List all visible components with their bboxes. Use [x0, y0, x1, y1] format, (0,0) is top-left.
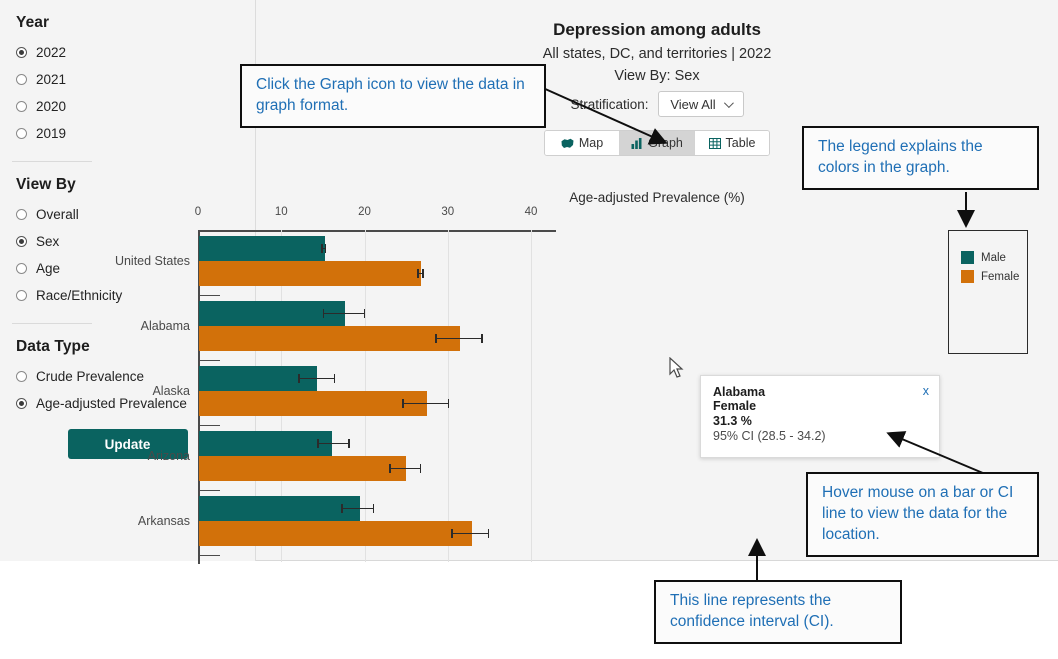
- year-option-2[interactable]: 2020: [16, 93, 239, 120]
- y-axis-label: United States: [115, 254, 190, 268]
- group-separator-tick: [198, 295, 220, 296]
- x-tick-label: 0: [195, 206, 201, 218]
- bar-arkansas-male[interactable]: [199, 496, 360, 521]
- ci-line-arkansas-male[interactable]: [341, 508, 374, 510]
- annotation-callout-legend: The legend explains the colors in the gr…: [802, 126, 1039, 190]
- close-icon[interactable]: x: [923, 384, 929, 398]
- tab-table[interactable]: Table: [695, 131, 769, 155]
- mouse-cursor-icon: [669, 357, 685, 379]
- ci-line-arizona-male[interactable]: [317, 443, 349, 445]
- bar-alabama-female[interactable]: [199, 326, 460, 351]
- bar-arkansas-female[interactable]: [199, 521, 472, 546]
- legend-color-swatch: [961, 251, 974, 264]
- viewby-group-title: View By: [16, 176, 239, 194]
- legend-color-swatch: [961, 270, 974, 283]
- x-axis-line: [198, 230, 556, 232]
- tooltip-stratification: Female: [713, 399, 927, 413]
- table-grid-icon: [709, 138, 721, 149]
- year-option-label: 2019: [36, 126, 66, 141]
- ci-line-alaska-male[interactable]: [298, 378, 335, 380]
- annotation-callout-graph: Click the Graph icon to view the data in…: [240, 64, 546, 128]
- bar-arizona-female[interactable]: [199, 456, 406, 481]
- year-option-label: 2020: [36, 99, 66, 114]
- gridline: [448, 230, 449, 562]
- y-axis-label: Arkansas: [138, 514, 190, 528]
- x-tick-label: 40: [525, 206, 538, 218]
- arrow-to-ci-line: [745, 540, 769, 584]
- ci-line-arizona-female[interactable]: [389, 468, 421, 470]
- viewby-option-label: Overall: [36, 207, 79, 222]
- group-separator-tick: [198, 490, 220, 491]
- y-axis-label: Arizona: [148, 449, 190, 463]
- x-axis-title: Age-adjusted Prevalence (%): [256, 190, 1058, 205]
- bar-alaska-female[interactable]: [199, 391, 427, 416]
- chart-plot-wrapper: United StatesAlabamaAlaskaArizonaArkansa…: [0, 222, 802, 562]
- ci-line-arkansas-female[interactable]: [451, 533, 489, 535]
- year-option-0[interactable]: 2022: [16, 39, 239, 66]
- radio-button-icon[interactable]: [16, 128, 27, 139]
- ci-line-alabama-male[interactable]: [323, 313, 365, 315]
- radio-button-icon[interactable]: [16, 101, 27, 112]
- x-tick-label: 30: [441, 206, 454, 218]
- page-subtitle: All states, DC, and territories | 2022: [256, 46, 1058, 62]
- tooltip-location: Alabama: [713, 385, 927, 399]
- arrow-to-graph-tab: [540, 84, 675, 150]
- arrow-to-legend: [955, 192, 979, 232]
- ci-line-united-states-male[interactable]: [321, 248, 326, 250]
- gridline: [531, 230, 532, 562]
- group-separator-tick: [198, 555, 220, 556]
- annotation-callout-ci: This line represents the confidence inte…: [654, 580, 902, 644]
- legend-label: Female: [981, 271, 1019, 283]
- tooltip-value: 31.3 %: [713, 414, 927, 428]
- chart-plot-area: 010203040: [198, 222, 556, 562]
- year-option-label: 2021: [36, 72, 66, 87]
- ci-line-alaska-female[interactable]: [402, 403, 449, 405]
- legend-label: Male: [981, 252, 1006, 264]
- x-tick-label: 20: [358, 206, 371, 218]
- year-group-title: Year: [16, 14, 239, 32]
- tab-label: Table: [726, 136, 756, 150]
- legend-item-female[interactable]: Female: [961, 270, 1027, 283]
- page-title: Depression among adults: [256, 20, 1058, 40]
- ci-line-united-states-female[interactable]: [417, 273, 424, 275]
- year-option-3[interactable]: 2019: [16, 120, 239, 147]
- group-separator-tick: [198, 360, 220, 361]
- y-axis-label: Alaska: [152, 384, 190, 398]
- year-option-1[interactable]: 2021: [16, 66, 239, 93]
- y-axis-category-labels: United StatesAlabamaAlaskaArizonaArkansa…: [74, 222, 190, 562]
- y-axis-label: Alabama: [141, 319, 190, 333]
- group-separator-tick: [198, 425, 220, 426]
- legend-item-male[interactable]: Male: [961, 251, 1027, 264]
- annotation-callout-hover: Hover mouse on a bar or CI line to view …: [806, 472, 1039, 557]
- chart-legend: MaleFemale: [948, 230, 1028, 354]
- radio-button-icon[interactable]: [16, 74, 27, 85]
- radio-button-icon[interactable]: [16, 47, 27, 58]
- sidebar-divider-1: [12, 161, 92, 162]
- bar-arizona-male[interactable]: [199, 431, 332, 456]
- year-filter-group: Year 2022202120202019: [0, 0, 255, 147]
- stratification-value: View All: [670, 97, 715, 112]
- bar-united-states-female[interactable]: [199, 261, 421, 286]
- chevron-down-icon: [724, 98, 734, 108]
- ci-line-alabama-female[interactable]: [435, 338, 482, 340]
- year-option-label: 2022: [36, 45, 66, 60]
- x-tick-label: 10: [275, 206, 288, 218]
- radio-button-icon[interactable]: [16, 209, 27, 220]
- bar-united-states-male[interactable]: [199, 236, 325, 261]
